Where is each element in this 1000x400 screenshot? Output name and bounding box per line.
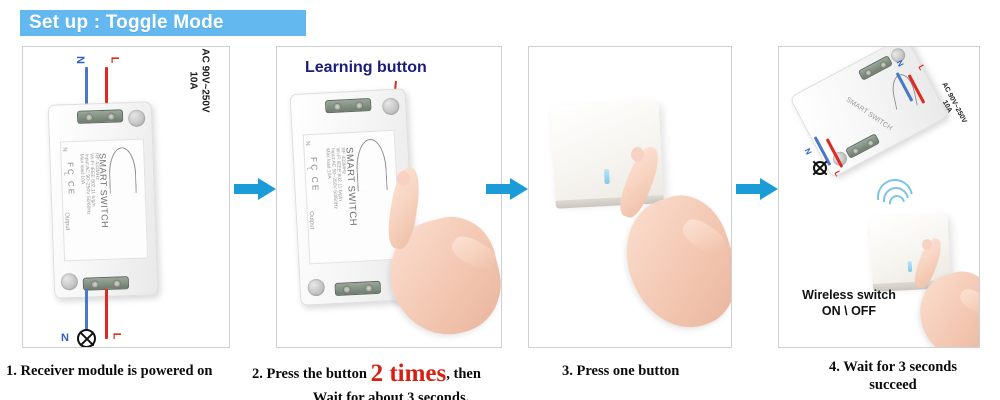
mount-hole-bottom-left bbox=[307, 279, 325, 297]
mount-hole-bottom-left bbox=[61, 273, 79, 291]
module-terminal-out: Output bbox=[63, 212, 70, 230]
caption-step-2-line-2: Wait for about 3 seconds. bbox=[252, 389, 530, 400]
fingernail bbox=[922, 239, 932, 250]
header-banner: Set up : Toggle Mode bbox=[20, 10, 306, 36]
module-printed-label: SMART SWITCH bbox=[828, 79, 899, 146]
arrow-shaft bbox=[736, 184, 762, 194]
module-printed-label: SMART SWITCH RF 433MHz Wi-Fi IEEE 802.11… bbox=[60, 139, 148, 262]
module-brand-text: SMART SWITCH bbox=[845, 96, 894, 132]
lamp-icon bbox=[77, 329, 96, 348]
wire-label-l-bottom: L bbox=[110, 333, 122, 340]
module-printed-label: SMART SWITCH RF 433MHz Wi-Fi IEEE 802.11… bbox=[303, 130, 402, 265]
instruction-sheet: Set up : Toggle Mode AC 90V~250V 10A N L bbox=[0, 0, 1000, 400]
receiver-module-body: SMART SWITCH RF 433MHz Wi-Fi IEEE 802.11… bbox=[48, 101, 159, 299]
wire-label-n-bottom: N bbox=[803, 147, 814, 156]
wire-label-n-bottom: N bbox=[61, 332, 69, 344]
arrow-head bbox=[510, 178, 528, 200]
mount-hole-top-right bbox=[382, 97, 400, 115]
ac-spec-label: AC 90V~250V 10A bbox=[188, 46, 211, 121]
caption-step-4-line-1: 4. Wait for 3 seconds bbox=[829, 359, 957, 375]
arrow-shaft bbox=[234, 184, 260, 194]
terminal-screw-l bbox=[879, 60, 888, 69]
terminal-block-input bbox=[858, 55, 893, 81]
module-terminal-in-l: L bbox=[305, 167, 311, 171]
caption-step-1-text: 1. Receiver module is powered on bbox=[6, 363, 212, 379]
page-title: Set up : Toggle Mode bbox=[20, 12, 224, 34]
terminal-block-output bbox=[334, 281, 381, 296]
caption-step-2-suffix: , then bbox=[446, 366, 481, 382]
arrow-step1-to-step2 bbox=[234, 178, 276, 200]
terminal-screw-out-n bbox=[851, 146, 860, 155]
arrow-head bbox=[258, 178, 276, 200]
wireless-switch-caption: Wireless switch ON \ OFF bbox=[787, 287, 911, 320]
terminal-screw-out-l bbox=[866, 138, 875, 147]
terminal-block-input bbox=[325, 98, 372, 113]
mount-hole-top-right bbox=[128, 109, 146, 127]
terminal-screw-l bbox=[355, 101, 363, 109]
caption-step-4: 4. Wait for 3 seconds succeed bbox=[800, 358, 986, 394]
terminal-screw-out-n bbox=[343, 285, 351, 293]
module-spec-line-4: Max load:10A bbox=[78, 154, 85, 185]
arrow-step2-to-step3 bbox=[486, 178, 528, 200]
led-indicator bbox=[908, 261, 913, 272]
module-terminal-out: Output bbox=[308, 211, 315, 229]
led-indicator bbox=[604, 169, 610, 184]
terminal-screw-l bbox=[107, 113, 115, 121]
arrow-shaft bbox=[486, 184, 512, 194]
module-terminal-in-l: L bbox=[62, 172, 68, 176]
caption-step-2-prefix: 2. Press the button bbox=[252, 366, 371, 382]
module-cert-marks: FC CE bbox=[309, 157, 321, 193]
caption-step-3: 3. Press one button bbox=[562, 362, 762, 380]
caption-step-4-line-2: succeed bbox=[800, 376, 986, 394]
panel-step-3 bbox=[528, 46, 732, 348]
wire-live-bottom bbox=[105, 289, 108, 339]
module-terminal-in-n: N bbox=[61, 147, 67, 152]
wireless-switch-caption-line-2: ON \ OFF bbox=[822, 304, 876, 318]
terminal-screw-n bbox=[85, 113, 93, 121]
panel-step-4: SMART SWITCH AC 90V~250V 10A N L N L bbox=[778, 46, 980, 348]
module-terminal-in-n: N bbox=[304, 141, 310, 146]
panel-step-2: Learning button SMART SWITCH RF 433MHz W… bbox=[276, 46, 502, 348]
caption-step-1: 1. Receiver module is powered on bbox=[6, 362, 246, 380]
terminal-screw-out-l bbox=[113, 279, 121, 287]
learning-button-callout: Learning button bbox=[305, 59, 427, 77]
caption-step-3-text: 3. Press one button bbox=[562, 363, 679, 379]
arrow-step3-to-step4 bbox=[736, 178, 778, 200]
terminal-screw-n bbox=[864, 68, 873, 77]
wire-label-l-top: L bbox=[108, 57, 120, 64]
terminal-screw-out-n bbox=[91, 280, 99, 288]
antenna-loop-icon bbox=[889, 72, 918, 110]
module-cert-marks: FC CE bbox=[66, 162, 76, 196]
caption-step-2-highlight: 2 times bbox=[371, 360, 447, 387]
fingernail bbox=[397, 171, 410, 186]
arrow-head bbox=[760, 178, 778, 200]
lamp-icon bbox=[813, 161, 827, 175]
wire-label-n-top: N bbox=[74, 56, 86, 64]
panel-step-1: AC 90V~250V 10A N L SMART SWITCH RF 433M… bbox=[22, 46, 230, 348]
caption-step-2: 2. Press the button 2 times, then Wait f… bbox=[252, 358, 530, 400]
wireless-switch-caption-line-1: Wireless switch bbox=[802, 288, 896, 302]
fingernail bbox=[631, 147, 644, 162]
terminal-screw-out-l bbox=[365, 284, 373, 292]
terminal-screw-n bbox=[333, 102, 341, 110]
terminal-block-input bbox=[77, 109, 123, 124]
